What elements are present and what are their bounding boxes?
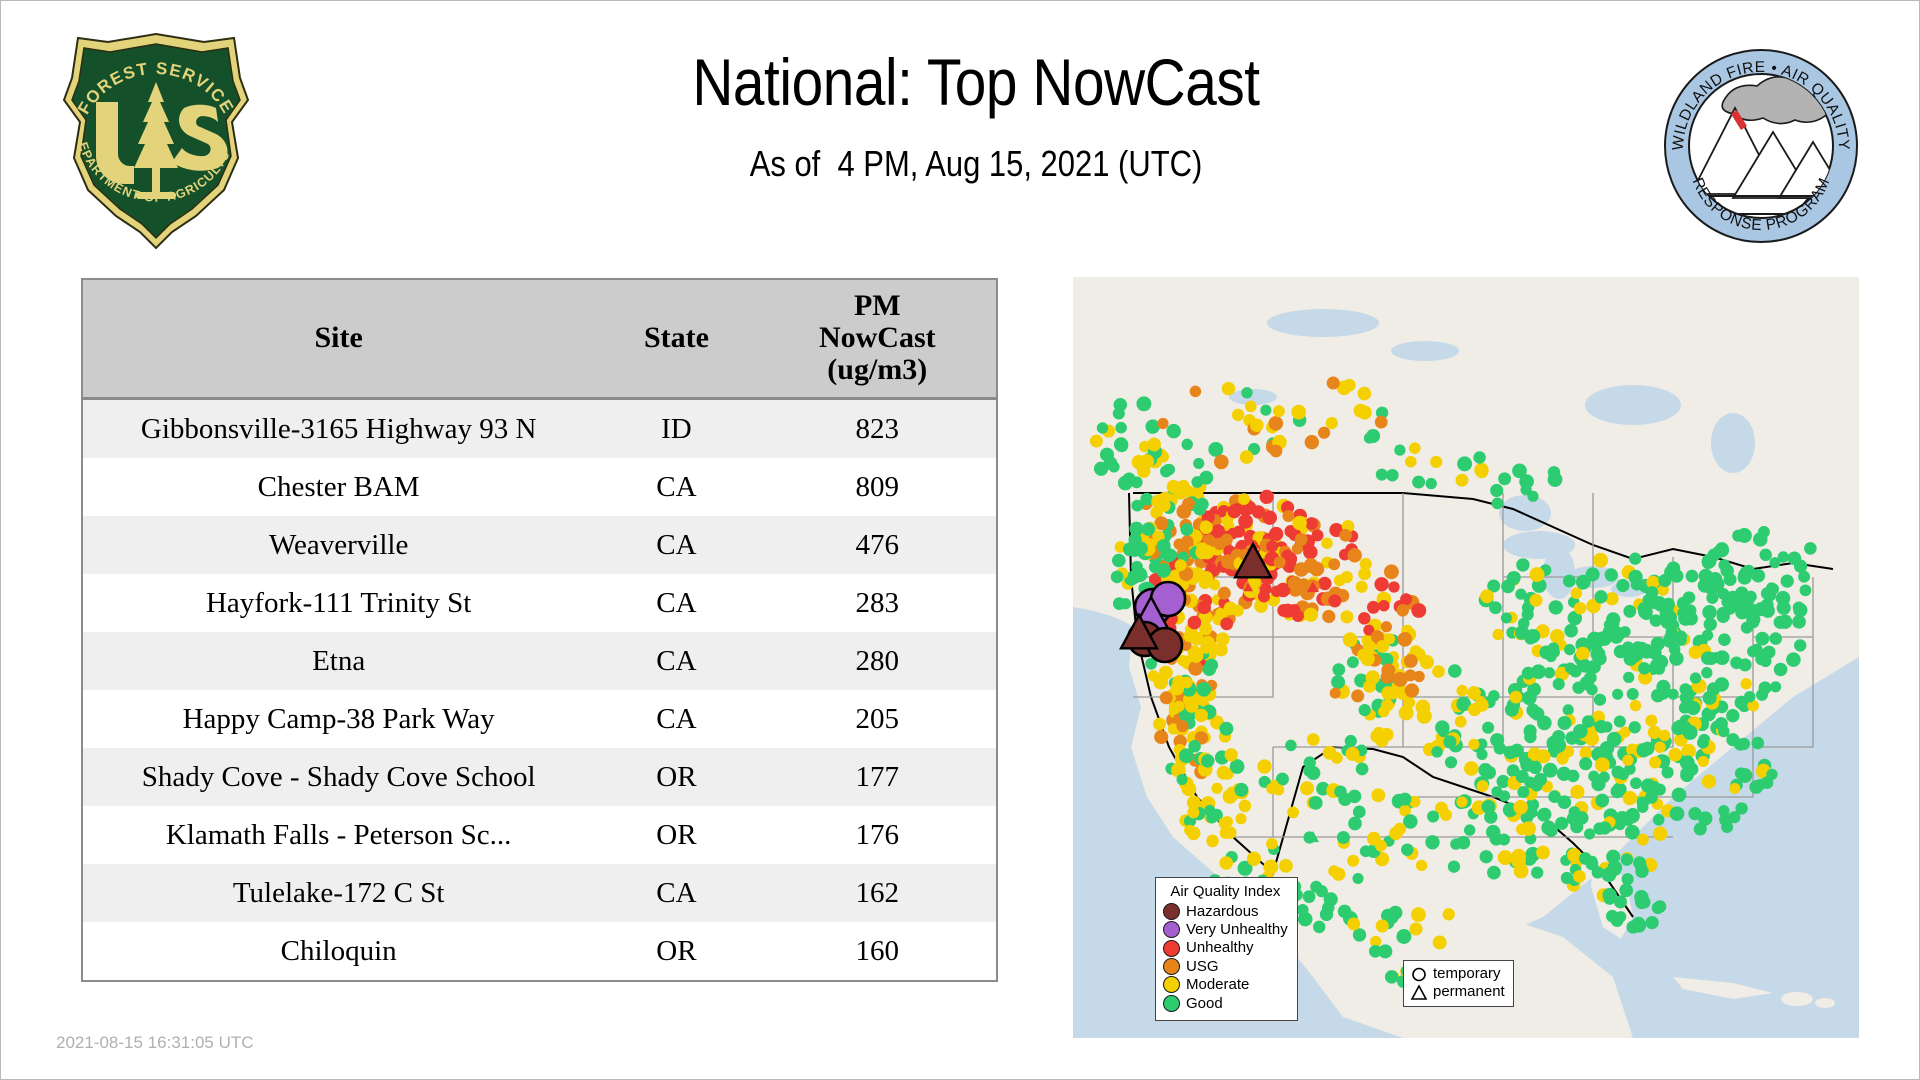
- monitor-dot: [1510, 691, 1523, 704]
- aqi-legend-swatch-icon: [1163, 940, 1180, 957]
- monitor-dot: [1347, 917, 1360, 930]
- monitor-dot: [1680, 691, 1694, 705]
- monitor-dot: [1282, 510, 1294, 522]
- monitor-dot: [1732, 530, 1744, 542]
- monitor-dot: [1490, 733, 1504, 747]
- monitor-dot: [1614, 627, 1626, 639]
- table-cell-value: 823: [759, 399, 996, 459]
- monitor-dot: [1366, 429, 1380, 443]
- monitor-dot: [1227, 504, 1241, 518]
- table-cell-value: 177: [759, 748, 996, 806]
- monitor-dot: [1318, 427, 1330, 439]
- monitor-dot: [1565, 662, 1576, 673]
- monitor-dot: [1718, 633, 1731, 646]
- monitor-dot: [1111, 571, 1124, 584]
- monitor-dot: [1367, 601, 1380, 614]
- monitor-dot: [1238, 493, 1250, 505]
- monitor-dot: [1318, 577, 1331, 590]
- monitor-dot: [1200, 521, 1213, 534]
- monitor-dot: [1384, 564, 1399, 579]
- monitor-dot: [1529, 594, 1542, 607]
- column-header-pm-line1: PM: [763, 290, 992, 322]
- monitor-dot: [1412, 476, 1425, 489]
- monitor-dot: [1381, 699, 1394, 712]
- table-cell-site: Happy Camp-38 Park Way: [83, 690, 594, 748]
- column-header-pm-line2: NowCast: [763, 322, 992, 354]
- monitor-dot: [1621, 853, 1633, 865]
- aqi-legend-label: Good: [1186, 995, 1223, 1012]
- monitor-dot: [1260, 405, 1271, 416]
- monitor-dot: [1131, 500, 1143, 512]
- aqi-legend-item: Hazardous: [1163, 903, 1288, 920]
- table-cell-state: CA: [594, 864, 758, 922]
- monitor-dot: [1356, 581, 1368, 593]
- monitor-dot: [1115, 422, 1127, 434]
- monitor-dot: [1794, 560, 1807, 573]
- monitor-dot: [1257, 759, 1271, 773]
- table-row[interactable]: ChiloquinOR160: [83, 922, 996, 980]
- monitor-dot: [1385, 970, 1399, 984]
- monitor-dot: [1574, 602, 1586, 614]
- table-cell-value: 176: [759, 806, 996, 864]
- aqi-legend-rows: HazardousVery UnhealthyUnhealthyUSGModer…: [1163, 903, 1288, 1012]
- table-cell-state: CA: [594, 574, 758, 632]
- monitor-dot: [1269, 416, 1284, 431]
- monitor-dot: [1426, 478, 1437, 489]
- monitor-dot: [1616, 579, 1629, 592]
- monitor-dot: [1456, 474, 1469, 487]
- monitor-dot: [1097, 422, 1108, 433]
- monitor-dot: [1482, 722, 1494, 734]
- table-row[interactable]: Happy Camp-38 Park WayCA205: [83, 690, 996, 748]
- monitor-dot: [1662, 598, 1675, 611]
- column-header-pm-line3: (ug/m3): [763, 354, 992, 386]
- monitor-dot: [1341, 571, 1353, 583]
- monitor-dot: [1345, 735, 1357, 747]
- monitor-dot: [1516, 558, 1529, 571]
- monitor-dot: [1132, 455, 1146, 469]
- monitor-dot: [1457, 836, 1471, 850]
- monitor-dot: [1531, 707, 1545, 721]
- monitor-dot: [1375, 840, 1387, 852]
- monitor-dot: [1549, 646, 1560, 657]
- monitor-dot: [1351, 689, 1364, 702]
- table-cell-site: Weaverville: [83, 516, 594, 574]
- monitor-dot: [1623, 672, 1634, 683]
- monitor-dot: [1433, 936, 1447, 950]
- monitor-dot: [1432, 665, 1445, 678]
- monitor-dot: [1388, 581, 1399, 592]
- monitor-dot: [1430, 456, 1442, 468]
- monitor-dot: [1219, 856, 1233, 870]
- monitor-dot: [1645, 916, 1658, 929]
- monitor-dot: [1260, 490, 1274, 504]
- monitor-dot: [1549, 600, 1563, 614]
- monitor-dot: [1176, 720, 1188, 732]
- aqi-legend-swatch-icon: [1163, 958, 1180, 975]
- monitor-dot: [1174, 539, 1185, 550]
- monitor-dot: [1147, 438, 1161, 452]
- table-cell-site: Chiloquin: [83, 922, 594, 980]
- monitor-dot: [1617, 768, 1629, 780]
- aqi-legend-title: Air Quality Index: [1163, 883, 1288, 900]
- monitor-dot: [1305, 435, 1319, 449]
- monitor-dot: [1112, 554, 1126, 568]
- monitor-dot: [1376, 469, 1388, 481]
- monitor-dot: [1737, 768, 1752, 783]
- monitor-dot: [1404, 654, 1418, 668]
- monitor-dot: [1634, 890, 1648, 904]
- table-row[interactable]: Tulelake-172 C StCA162: [83, 864, 996, 922]
- monitor-dot: [1522, 608, 1534, 620]
- table-cell-value: 205: [759, 690, 996, 748]
- monitor-dot: [1175, 559, 1187, 571]
- table-cell-state: CA: [594, 690, 758, 748]
- table-row[interactable]: Shady Cove - Shady Cove SchoolOR177: [83, 748, 996, 806]
- monitor-dot: [1398, 632, 1413, 647]
- monitor-dot: [1128, 544, 1141, 557]
- table-row[interactable]: Chester BAMCA809: [83, 458, 996, 516]
- monitor-dot: [1570, 785, 1584, 799]
- monitor-dot: [1263, 860, 1278, 875]
- monitor-dot: [1669, 651, 1683, 665]
- us-forest-service-logo: FOREST SERVICE DEPARTMENT OF AGRICULTURE: [56, 26, 256, 251]
- monitor-dot: [1595, 794, 1609, 808]
- monitor-dot: [1690, 672, 1701, 683]
- monitor-dot: [1183, 630, 1195, 642]
- monitor-dot: [1241, 387, 1252, 398]
- monitor-dot: [1157, 499, 1171, 513]
- monitor-dot: [1715, 677, 1729, 691]
- table-header: Site State PM NowCast (ug/m3): [83, 280, 996, 399]
- table-cell-value: 809: [759, 458, 996, 516]
- monitor-dot: [1761, 776, 1774, 789]
- monitor-dot: [1211, 783, 1222, 794]
- monitor-dot: [1666, 626, 1678, 638]
- monitor-dot: [1307, 733, 1320, 746]
- table-cell-site: Etna: [83, 632, 594, 690]
- monitor-dot: [1273, 405, 1285, 417]
- symbol-legend-label-temporary: temporary: [1433, 965, 1501, 983]
- monitor-dot: [1794, 639, 1806, 651]
- monitor-dot: [1327, 376, 1340, 389]
- monitor-dot: [1313, 921, 1325, 933]
- monitor-dot: [1331, 675, 1345, 689]
- monitor-dot: [1326, 417, 1338, 429]
- aqi-legend-swatch-icon: [1163, 921, 1180, 938]
- table-cell-value: 160: [759, 922, 996, 980]
- monitor-dot: [1602, 888, 1616, 902]
- monitor-dot: [1294, 562, 1309, 577]
- monitor-dot: [1224, 826, 1237, 839]
- monitor-dot: [1563, 575, 1576, 588]
- monitor-dot: [1347, 656, 1359, 668]
- monitor-dot: [1703, 691, 1717, 705]
- monitor-dot: [1623, 605, 1636, 618]
- air-quality-map[interactable]: Air Quality Index HazardousVery Unhealth…: [1073, 277, 1859, 1038]
- monitor-dot: [1575, 811, 1588, 824]
- monitor-dot: [1440, 809, 1452, 821]
- monitor-dot: [1702, 630, 1713, 641]
- table-cell-state: CA: [594, 458, 758, 516]
- monitor-dot: [1153, 718, 1166, 731]
- monitor-dot: [1330, 688, 1341, 699]
- monitor-dot: [1492, 498, 1504, 510]
- monitor-dot: [1726, 591, 1739, 604]
- monitor-dot: [1689, 645, 1702, 658]
- monitor-dot: [1239, 800, 1252, 813]
- monitor-dot: [1764, 589, 1776, 601]
- monitor-dot: [1142, 522, 1155, 535]
- monitor-dot: [1245, 401, 1257, 413]
- monitor-dot: [1614, 715, 1626, 727]
- monitor-dot: [1191, 476, 1203, 488]
- monitor-dot: [1352, 873, 1363, 884]
- wfaqrp-logo: WILDLAND FIRE • AIR QUALITY RESPONSE PRO…: [1661, 46, 1861, 246]
- monitor-dot: [1498, 472, 1511, 485]
- monitor-dot: [1670, 806, 1685, 821]
- monitor-dot: [1706, 592, 1718, 604]
- monitor-dot: [1770, 681, 1781, 692]
- monitor-dot: [1303, 890, 1316, 903]
- monitor-dot: [1761, 604, 1775, 618]
- monitor-dot: [1628, 570, 1642, 584]
- monitor-dot: [1654, 741, 1665, 752]
- monitor-dot: [1601, 721, 1612, 732]
- monitor-dot: [1759, 549, 1771, 561]
- monitor-dot: [1499, 790, 1510, 801]
- aqi-legend-label: Moderate: [1186, 976, 1249, 993]
- monitor-dot: [1649, 756, 1661, 768]
- monitor-dot: [1250, 418, 1264, 432]
- monitor-dot: [1427, 810, 1439, 822]
- monitor-dot: [1337, 831, 1350, 844]
- table-header-row: Site State PM NowCast (ug/m3): [83, 280, 996, 399]
- monitor-dot: [1642, 594, 1654, 606]
- table-cell-site: Tulelake-172 C St: [83, 864, 594, 922]
- monitor-dot: [1474, 463, 1488, 477]
- monitor-dot: [1573, 870, 1586, 883]
- wildland-fire-air-quality-icon: WILDLAND FIRE • AIR QUALITY RESPONSE PRO…: [1661, 46, 1861, 246]
- monitor-dot: [1321, 537, 1332, 548]
- monitor-dot: [1274, 556, 1286, 568]
- monitor-dot: [1104, 456, 1117, 469]
- monitor-dot: [1218, 587, 1231, 600]
- monitor-dot: [1443, 908, 1455, 920]
- monitor-dot: [1702, 605, 1716, 619]
- monitor-dot: [1653, 826, 1667, 840]
- monitor-dot: [1279, 859, 1293, 873]
- table-row[interactable]: EtnaCA280: [83, 632, 996, 690]
- column-header-pm-nowcast: PM NowCast (ug/m3): [759, 280, 996, 399]
- monitor-dot: [1366, 670, 1380, 684]
- monitor-dot: [1405, 456, 1417, 468]
- monitor-dot: [1416, 860, 1427, 871]
- monitor-dot: [1374, 577, 1388, 591]
- monitor-dot: [1120, 598, 1131, 609]
- monitor-dot: [1153, 675, 1168, 690]
- monitor-dot: [1776, 591, 1791, 606]
- monitor-dot: [1305, 517, 1318, 530]
- table-row[interactable]: WeavervilleCA476: [83, 516, 996, 574]
- monitor-dot: [1180, 523, 1193, 536]
- monitor-dot: [1328, 865, 1339, 876]
- table-cell-state: ID: [594, 399, 758, 459]
- monitor-dot: [1648, 726, 1661, 739]
- monitor-dot: [1578, 659, 1591, 672]
- monitor-dot: [1641, 778, 1655, 792]
- monitor-dot: [1189, 648, 1204, 663]
- monitor-dot: [1303, 765, 1314, 776]
- monitor-dot: [1304, 608, 1318, 622]
- monitor-dot: [1348, 790, 1361, 803]
- monitor-dot: [1712, 546, 1725, 559]
- monitor-dot: [1225, 748, 1238, 761]
- monitor-dot: [1197, 682, 1212, 697]
- monitor-dot: [1486, 825, 1500, 839]
- monitor-dot: [1662, 766, 1674, 778]
- monitor-dot: [1553, 678, 1565, 690]
- monitor-dot: [1537, 808, 1550, 821]
- monitor-dot: [1222, 382, 1235, 395]
- monitor-dot: [1720, 564, 1733, 577]
- table-cell-state: OR: [594, 806, 758, 864]
- monitor-dot: [1793, 601, 1805, 613]
- monitor-dot: [1482, 800, 1496, 814]
- monitor-dot: [1622, 755, 1633, 766]
- page-subtitle: As of 4 PM, Aug 15, 2021 (UTC): [482, 143, 1471, 185]
- monitor-dot: [1200, 571, 1213, 584]
- monitor-dot: [1487, 866, 1501, 880]
- monitor-dot: [1688, 807, 1701, 820]
- monitor-dot: [1593, 553, 1608, 568]
- monitor-dot: [1668, 748, 1682, 762]
- monitor-dot: [1579, 852, 1592, 865]
- monitor-dot: [1354, 404, 1368, 418]
- monitor-dot: [1252, 505, 1265, 518]
- monitor-dot: [1804, 542, 1817, 555]
- monitor-dot: [1214, 455, 1229, 470]
- monitor-dot: [1611, 914, 1624, 927]
- monitor-dot: [1699, 569, 1713, 583]
- monitor-dot: [1659, 730, 1670, 741]
- monitor-dot: [1310, 562, 1323, 575]
- column-header-state: State: [594, 280, 758, 399]
- monitor-dot: [1347, 548, 1361, 562]
- table-row[interactable]: Klamath Falls - Peterson Sc...OR176: [83, 806, 996, 864]
- monitor-dot: [1498, 833, 1510, 845]
- monitor-dot: [1384, 633, 1395, 644]
- monitor-dot: [1409, 922, 1422, 935]
- monitor-dot: [1740, 566, 1752, 578]
- monitor-dot: [1401, 843, 1413, 855]
- monitor-dot: [1705, 652, 1718, 665]
- title-block: National: Top NowCast As of 4 PM, Aug 15…: [401, 46, 1551, 185]
- monitor-dot: [1635, 865, 1648, 878]
- monitor-dot: [1752, 737, 1765, 750]
- monitor-dot: [1564, 624, 1578, 638]
- monitor-dot: [1455, 716, 1467, 728]
- table-cell-state: CA: [594, 632, 758, 690]
- monitor-dot: [1193, 458, 1204, 469]
- monitor-dot: [1339, 529, 1352, 542]
- monitor-dot: [1376, 920, 1389, 933]
- monitor-dot: [1622, 873, 1634, 885]
- monitor-dot: [1289, 604, 1300, 615]
- aqi-legend-swatch-icon: [1163, 976, 1180, 993]
- table-cell-value: 283: [759, 574, 996, 632]
- monitor-dot: [1747, 646, 1759, 658]
- monitor-dot: [1170, 682, 1184, 696]
- monitor-dot: [1800, 584, 1812, 596]
- monitor-dot: [1555, 817, 1568, 830]
- monitor-dot: [1645, 791, 1658, 804]
- monitor-dot: [1595, 632, 1609, 646]
- monitor-dot: [1769, 557, 1780, 568]
- monitor-dot: [1190, 386, 1202, 398]
- monitor-dot: [1188, 661, 1203, 676]
- monitor-dot: [1573, 724, 1588, 739]
- monitor-dot: [1206, 812, 1218, 824]
- monitor-dot: [1489, 601, 1502, 614]
- monitor-dot: [1774, 663, 1788, 677]
- monitor-dot: [1605, 568, 1618, 581]
- monitor-dot: [1778, 615, 1792, 629]
- monitor-dot: [1201, 754, 1215, 768]
- monitor-dot: [1118, 476, 1133, 491]
- aqi-legend: Air Quality Index HazardousVery Unhealth…: [1155, 877, 1298, 1021]
- monitor-dot: [1448, 664, 1462, 678]
- monitor-dot: [1622, 814, 1634, 826]
- monitor-dot: [1704, 618, 1717, 631]
- monitor-dot: [1316, 885, 1328, 897]
- monitor-dot: [1595, 757, 1610, 772]
- monitor-dot: [1680, 755, 1695, 770]
- monitor-dot: [1638, 662, 1650, 674]
- monitor-dot: [1599, 771, 1610, 782]
- monitor-dot: [1347, 855, 1359, 867]
- page-title: National: Top NowCast: [482, 46, 1471, 119]
- monitor-dot: [1591, 647, 1606, 662]
- temporary-circle-icon: [1409, 966, 1429, 983]
- monitor-dot: [1216, 632, 1230, 646]
- monitor-dot: [1425, 835, 1439, 849]
- monitor-dot: [1678, 721, 1692, 735]
- monitor-dot: [1298, 578, 1309, 589]
- monitor-dot: [1445, 756, 1457, 768]
- monitor-dot: [1219, 722, 1233, 736]
- monitor-dot: [1480, 850, 1493, 863]
- monitor-dot: [1548, 466, 1560, 478]
- monitor-dot: [1322, 610, 1335, 623]
- monitor-dot: [1719, 813, 1732, 826]
- monitor-dot: [1756, 632, 1770, 646]
- monitor-dot: [1136, 396, 1151, 411]
- top-nowcast-table: Site State PM NowCast (ug/m3) Gibbonsvil…: [83, 280, 996, 980]
- monitor-dot: [1607, 732, 1622, 747]
- monitor-dot: [1448, 860, 1460, 872]
- table-row[interactable]: Gibbonsville-3165 Highway 93 NID823: [83, 399, 996, 459]
- monitor-dot: [1328, 594, 1341, 607]
- table-row[interactable]: Hayfork-111 Trinity StCA283: [83, 574, 996, 632]
- monitor-dot: [1637, 834, 1649, 846]
- monitor-dot: [1756, 689, 1768, 701]
- symbol-legend-label-permanent: permanent: [1433, 983, 1505, 1001]
- monitor-dot: [1247, 852, 1261, 866]
- monitor-dot: [1520, 758, 1534, 772]
- monitor-dot: [1309, 796, 1323, 810]
- monitor-dot: [1567, 848, 1581, 862]
